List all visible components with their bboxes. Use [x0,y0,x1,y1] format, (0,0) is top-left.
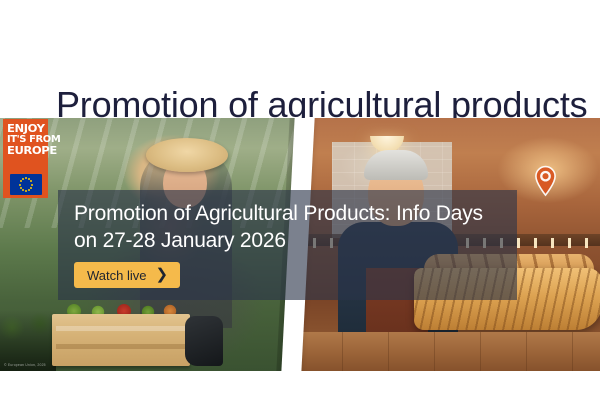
enjoy-its-from-europe-badge: ENJOY IT'S FROM EUROPE [3,119,48,198]
eu-flag-star [22,189,24,191]
potted-plants [0,310,56,371]
eu-flag-star [20,187,22,189]
baker-man-hair [364,150,428,180]
hero-banner[interactable]: © European Union, 2025 ENJOY IT'S FROM E… [0,118,600,371]
hero-headline: Promotion of Agricultural Products: Info… [74,200,504,254]
photo-credit: © European Union, 2025 [4,363,46,367]
eu-flag-star [30,187,32,189]
eu-flag-star [20,180,22,182]
straw-hat [146,138,228,172]
wooden-counter [296,332,600,371]
eu-flag-star [25,177,27,179]
eu-flag-star [19,184,21,186]
eu-flag-star [31,184,33,186]
eu-flag-star [25,190,27,192]
eu-flag-icon [10,174,42,195]
watch-live-button[interactable]: Watch live ❯ [74,262,180,288]
wooden-crate [52,314,190,366]
hero-overlay-panel: Promotion of Agricultural Products: Info… [58,190,517,300]
rubber-boot [185,316,223,366]
badge-line-3: EUROPE [7,145,47,156]
eu-flag-star [22,178,24,180]
watch-live-label: Watch live [87,268,146,283]
badge-text: ENJOY IT'S FROM EUROPE [7,123,47,156]
badge-line-1: ENJOY [7,123,47,134]
chevron-right-icon: ❯ [155,267,168,282]
eu-flag-star [28,189,30,191]
eu-flag-star [30,180,32,182]
map-pin-icon[interactable] [534,165,557,197]
